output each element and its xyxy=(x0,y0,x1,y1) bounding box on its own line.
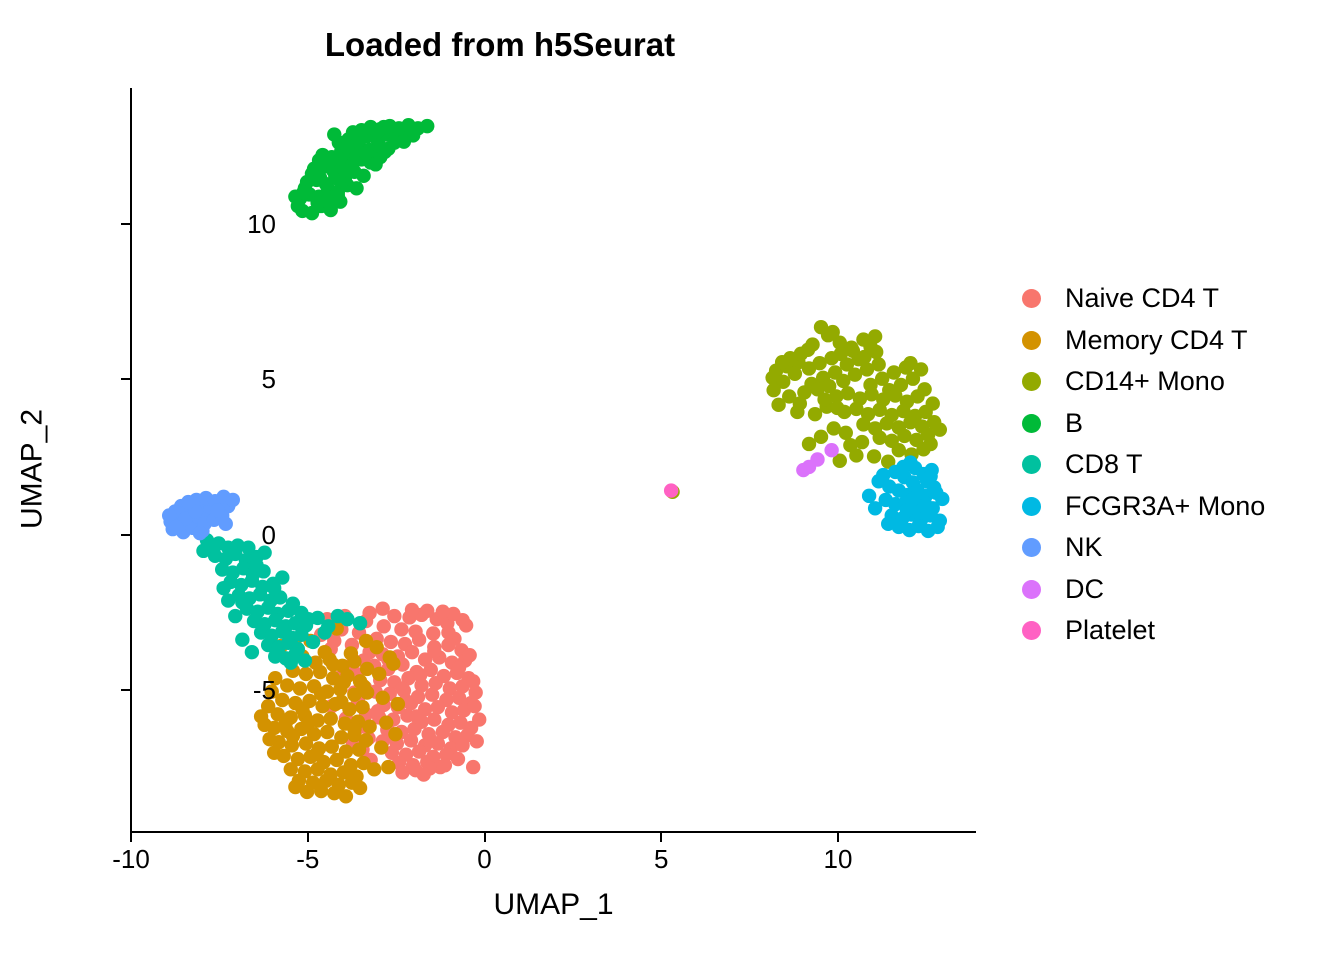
plot-panel xyxy=(131,88,976,832)
y-tick-label: -5 xyxy=(156,677,276,703)
x-tick-label: 10 xyxy=(798,846,878,872)
y-tick-label: 0 xyxy=(156,522,276,548)
legend-dot-icon xyxy=(1022,331,1041,350)
legend-dot-icon xyxy=(1022,497,1041,516)
legend-label: NK xyxy=(1065,534,1103,561)
legend-label: CD8 T xyxy=(1065,451,1143,478)
umap-plot: Loaded from h5Seurat -10-50510-50510 UMA… xyxy=(0,0,1344,960)
legend-label: Memory CD4 T xyxy=(1065,327,1248,354)
x-axis-label: UMAP_1 xyxy=(131,888,976,922)
legend-dot-icon xyxy=(1022,455,1041,474)
legend-dot-icon xyxy=(1022,372,1041,391)
legend-item-dc[interactable]: DC xyxy=(1022,569,1332,611)
x-tick-mark xyxy=(130,833,132,842)
legend-item-cd8-t[interactable]: CD8 T xyxy=(1022,444,1332,486)
legend-label: B xyxy=(1065,410,1083,437)
legend-item-b[interactable]: B xyxy=(1022,403,1332,445)
legend-dot-icon xyxy=(1022,414,1041,433)
x-axis-line xyxy=(131,831,976,833)
y-tick-mark xyxy=(121,689,130,691)
legend-label: Naive CD4 T xyxy=(1065,285,1219,312)
x-tick-mark xyxy=(484,833,486,842)
y-tick-label: 5 xyxy=(156,366,276,392)
x-tick-mark xyxy=(660,833,662,842)
x-tick-label: -10 xyxy=(91,846,171,872)
y-tick-mark xyxy=(121,534,130,536)
y-tick-label: 10 xyxy=(156,211,276,237)
legend-item-platelet[interactable]: Platelet xyxy=(1022,610,1332,652)
legend-item-naive-cd4-t[interactable]: Naive CD4 T xyxy=(1022,278,1332,320)
legend-label: FCGR3A+ Mono xyxy=(1065,493,1265,520)
legend-dot-icon xyxy=(1022,621,1041,640)
legend-dot-icon xyxy=(1022,580,1041,599)
legend-label: DC xyxy=(1065,576,1104,603)
legend-item-fcgr3a-mono[interactable]: FCGR3A+ Mono xyxy=(1022,486,1332,528)
legend-item-memory-cd4-t[interactable]: Memory CD4 T xyxy=(1022,320,1332,362)
x-tick-mark xyxy=(837,833,839,842)
y-tick-mark xyxy=(121,223,130,225)
legend-dot-icon xyxy=(1022,289,1041,308)
legend: Naive CD4 TMemory CD4 TCD14+ MonoBCD8 TF… xyxy=(1022,278,1332,652)
x-tick-label: 5 xyxy=(621,846,701,872)
legend-label: CD14+ Mono xyxy=(1065,368,1225,395)
x-tick-label: 0 xyxy=(445,846,525,872)
y-axis-line xyxy=(130,88,132,833)
y-tick-mark xyxy=(121,378,130,380)
legend-label: Platelet xyxy=(1065,617,1155,644)
page-title: Loaded from h5Seurat xyxy=(0,26,1000,64)
legend-dot-icon xyxy=(1022,538,1041,557)
y-axis-label: UMAP_2 xyxy=(16,97,50,842)
legend-item-cd14-mono[interactable]: CD14+ Mono xyxy=(1022,361,1332,403)
x-tick-label: -5 xyxy=(268,846,348,872)
x-tick-mark xyxy=(307,833,309,842)
legend-item-nk[interactable]: NK xyxy=(1022,527,1332,569)
